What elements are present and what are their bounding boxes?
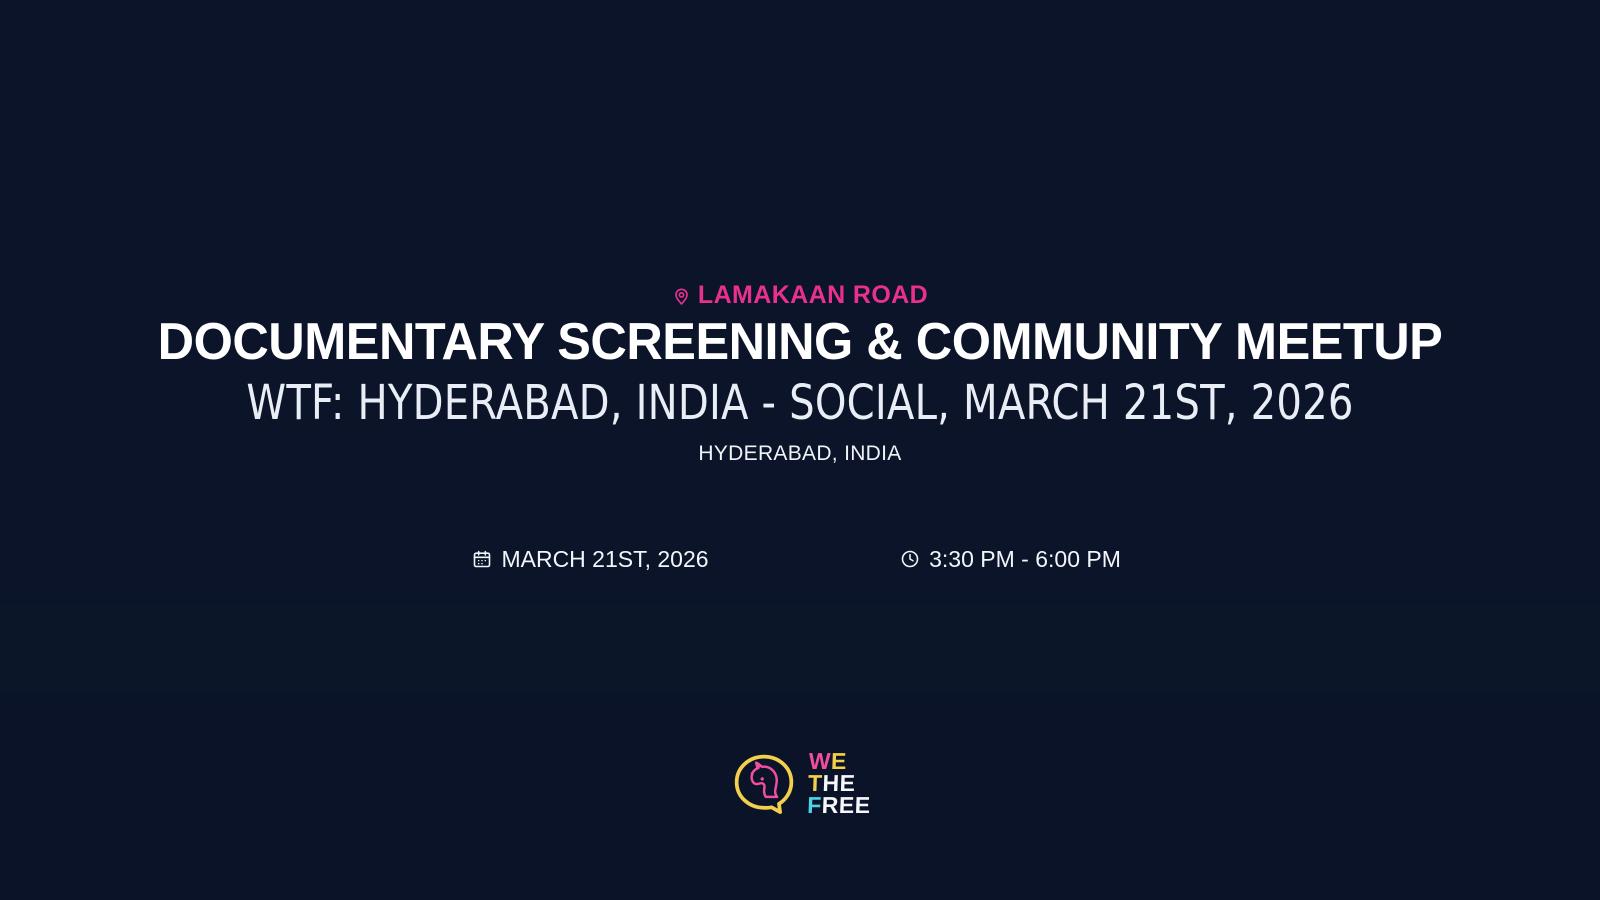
- event-meta-row: MARCH 21ST, 2026 3:30 PM - 6:00 PM: [0, 543, 1600, 575]
- venue-label: LAMAKAAN ROAD: [698, 283, 928, 308]
- brand-letter-f: F: [807, 792, 822, 818]
- horse-head-in-speech-bubble-icon: [728, 748, 800, 820]
- event-time-value: 3:30 PM - 6:00 PM: [929, 543, 1121, 575]
- poster-content: LAMAKAAN ROAD DOCUMENTARY SCREENING & CO…: [0, 0, 1600, 900]
- brand-wordmark: WE THE FREE: [807, 751, 873, 817]
- brand-word-free: FREE: [807, 795, 871, 817]
- brand-letters-ree: REE: [822, 792, 872, 818]
- event-date: MARCH 21ST, 2026: [380, 543, 800, 575]
- page-title: DOCUMENTARY SCREENING & COMMUNITY MEETUP: [24, 312, 1576, 372]
- clock-icon: [899, 549, 920, 570]
- city-label: HYDERABAD, INDIA: [0, 440, 1600, 468]
- event-date-value: MARCH 21ST, 2026: [501, 543, 708, 575]
- event-poster: LAMAKAAN ROAD DOCUMENTARY SCREENING & CO…: [0, 0, 1600, 900]
- page-subtitle: WTF: HYDERABAD, INDIA - SOCIAL, MARCH 21…: [56, 374, 1544, 432]
- calendar-icon: [471, 549, 492, 570]
- map-pin-icon: [672, 287, 691, 306]
- brand-logo: WE THE FREE: [0, 748, 1600, 820]
- venue-row: LAMAKAAN ROAD: [0, 283, 1600, 308]
- event-time: 3:30 PM - 6:00 PM: [800, 543, 1220, 575]
